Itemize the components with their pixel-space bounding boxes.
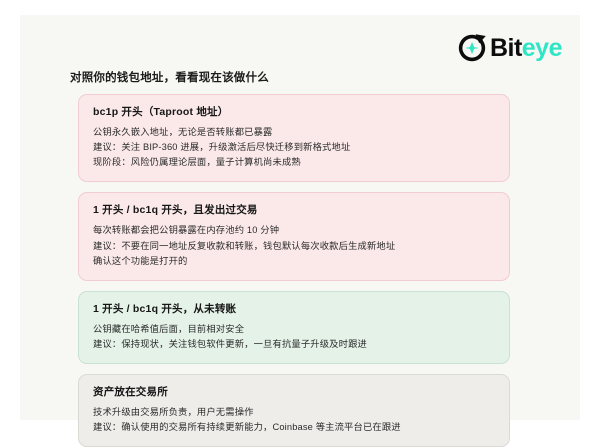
card-title: 1 开头 / bc1q 开头，且发出过交易	[93, 203, 495, 217]
address-card-unspent: 1 开头 / bc1q 开头，从未转账 公钥藏在哈希值后面，目前相对安全 建议：…	[78, 291, 510, 364]
address-guidance-list: bc1p 开头（Taproot 地址） 公钥永久嵌入地址，无论是否转账都已暴露 …	[78, 94, 510, 447]
card-line: 公钥永久嵌入地址，无论是否转账都已暴露	[93, 125, 495, 140]
brand-wordmark: Biteye	[490, 36, 562, 61]
card-title: 1 开头 / bc1q 开头，从未转账	[93, 302, 495, 316]
card-line: 公钥藏在哈希值后面，目前相对安全	[93, 322, 495, 337]
brand-name-primary: Bit	[490, 36, 522, 61]
biteye-logo-icon	[457, 33, 487, 63]
page-title: 对照你的钱包地址，看看现在该做什么	[70, 69, 269, 85]
brand-logo: Biteye	[457, 31, 562, 65]
card-line: 技术升级由交易所负责，用户无需操作	[93, 405, 495, 420]
card-title: bc1p 开头（Taproot 地址）	[93, 105, 495, 119]
card-title: 资产放在交易所	[93, 385, 495, 399]
card-line: 确认这个功能是打开的	[93, 254, 495, 269]
address-card-spent: 1 开头 / bc1q 开头，且发出过交易 每次转账都会把公钥暴露在内存池约 1…	[78, 192, 510, 280]
card-line: 现阶段：风险仍属理论层面，量子计算机尚未成熟	[93, 155, 495, 170]
card-line: 每次转账都会把公钥暴露在内存池约 10 分钟	[93, 223, 495, 238]
address-card-bc1p: bc1p 开头（Taproot 地址） 公钥永久嵌入地址，无论是否转账都已暴露 …	[78, 94, 510, 182]
brand-name-accent: eye	[522, 36, 562, 61]
card-line: 建议：关注 BIP-360 进展，升级激活后尽快迁移到新格式地址	[93, 140, 495, 155]
address-card-exchange: 资产放在交易所 技术升级由交易所负责，用户无需操作 建议：确认使用的交易所有持续…	[78, 374, 510, 447]
card-line: 建议：保持现状，关注钱包软件更新，一旦有抗量子升级及时跟进	[93, 337, 495, 352]
page-canvas: Biteye 对照你的钱包地址，看看现在该做什么 bc1p 开头（Taproot…	[20, 15, 580, 420]
card-line: 建议：不要在同一地址反复收款和转账，钱包默认每次收款后生成新地址	[93, 239, 495, 254]
